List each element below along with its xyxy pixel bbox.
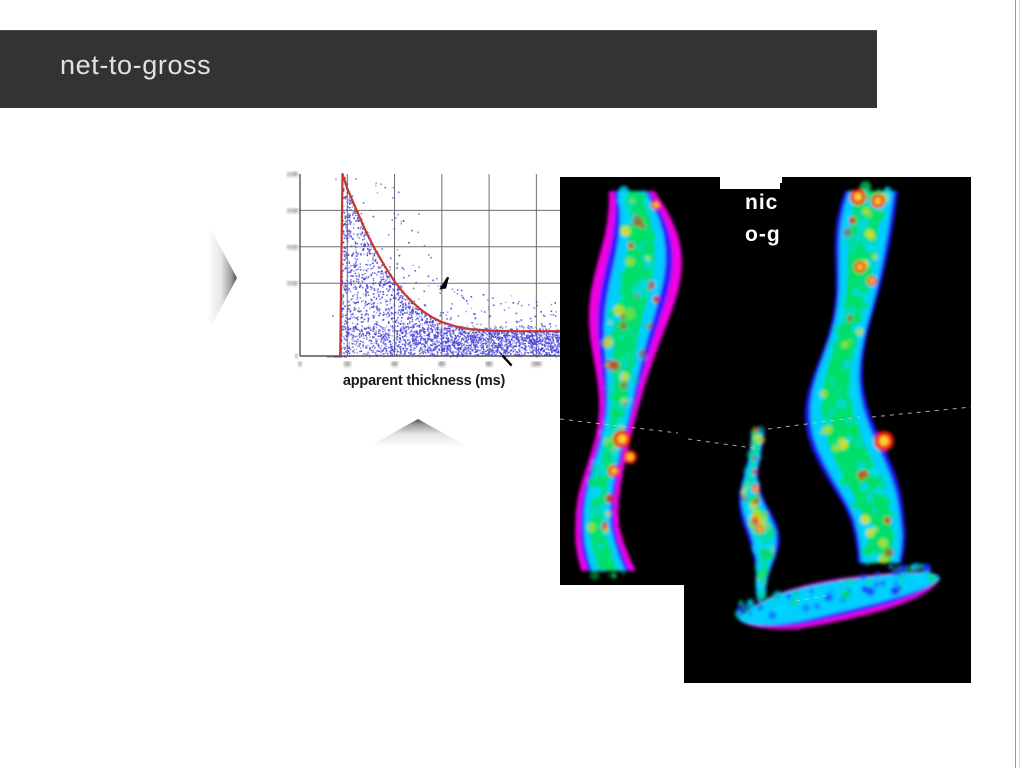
slide-edge-inner [1019, 0, 1020, 768]
slide-edge-border [1015, 0, 1016, 768]
chart-x-axis-label: apparent thickness (ms) [286, 373, 562, 389]
page-title: net-to-gross [60, 50, 211, 81]
up-pointing-arrow [366, 416, 470, 450]
title-banner-highlight [0, 30, 877, 31]
seismic-label-fragment-2: o-g [745, 223, 781, 247]
seismic-label-fragment-1: nic [745, 191, 778, 215]
seismic-amplitude-composite: nic o-g [560, 171, 971, 684]
scatter-chart: 0204060801000.050.040.030.020 apparent t… [286, 168, 562, 406]
seismic-label-occlusion-mask [720, 171, 780, 189]
right-pointing-arrow [206, 222, 240, 334]
presentation-slide: net-to-gross [0, 0, 1024, 768]
